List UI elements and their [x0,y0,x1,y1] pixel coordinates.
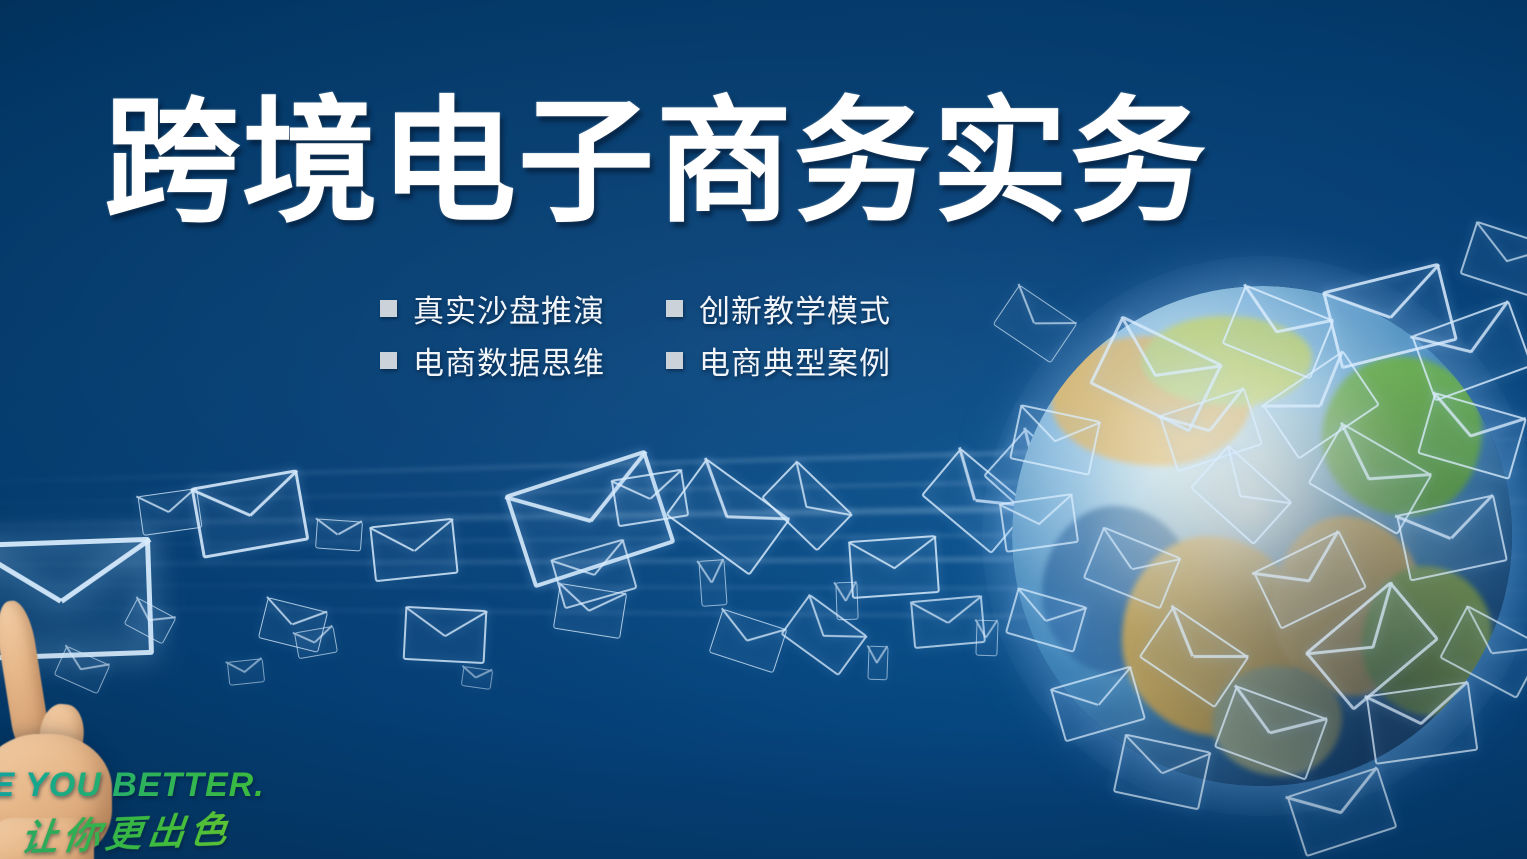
bullet-label: 创新教学模式 [699,286,891,331]
square-bullet-icon [380,300,397,317]
bullet-item-1: 真实沙盘推演 [380,282,666,334]
square-bullet-icon [380,352,397,369]
presentation-slide: 跨境电子商务实务 真实沙盘推演 创新教学模式 电商数据思维 电商典型案例 KE … [0,0,1527,859]
bullet-label: 电商数据思维 [413,338,605,383]
bullet-item-4: 电商典型案例 [666,334,891,386]
bullet-label: 电商典型案例 [699,338,891,383]
square-bullet-icon [666,352,683,369]
square-bullet-icon [666,300,683,317]
bullet-item-2: 创新教学模式 [666,282,891,334]
feature-bullet-list: 真实沙盘推演 创新教学模式 电商数据思维 电商典型案例 [380,282,891,386]
bullet-item-3: 电商数据思维 [380,334,666,386]
page-title: 跨境电子商务实务 [104,94,1208,230]
bullet-label: 真实沙盘推演 [413,286,605,331]
